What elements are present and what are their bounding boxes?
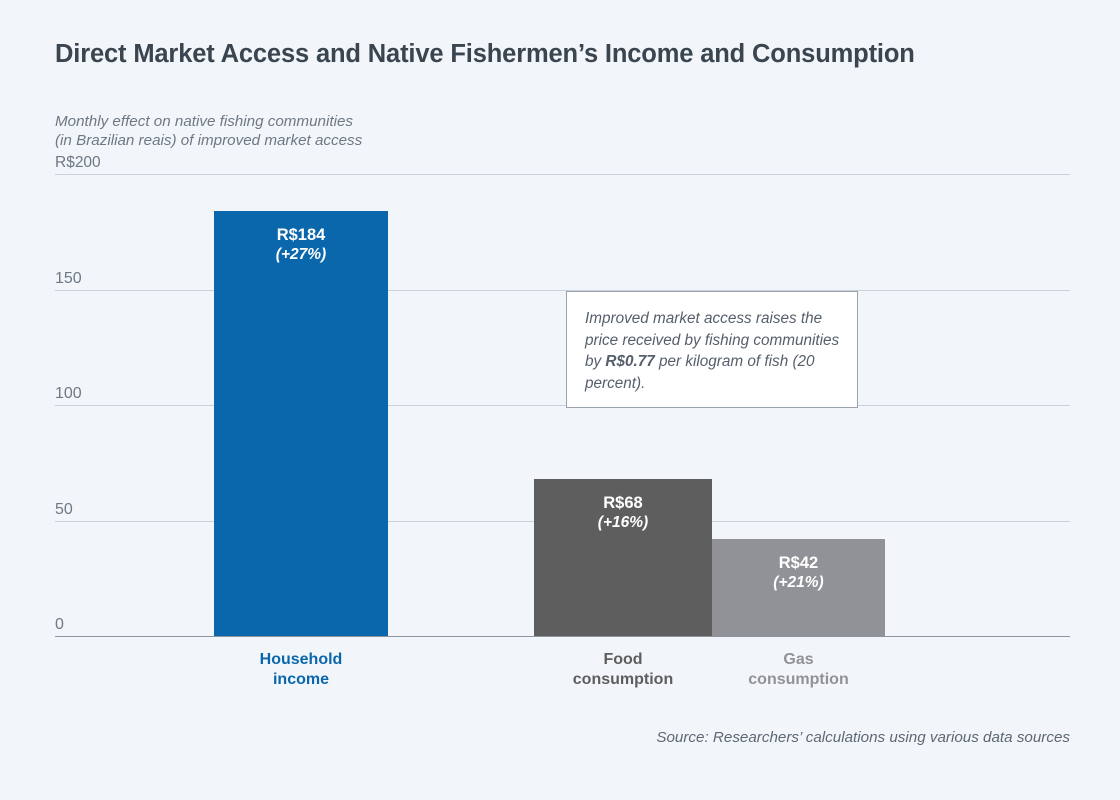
bar-gas-consumption[interactable]: R$42(+21%)	[712, 539, 885, 636]
plot-area: R$200150100500R$184(+27%)Householdincome…	[0, 0, 1120, 800]
y-tick-200: R$200	[55, 155, 101, 171]
bar-delta-label-food-consumption: (+16%)	[534, 513, 712, 533]
bar-value-label-gas-consumption: R$42	[712, 553, 885, 573]
bar-food-consumption[interactable]: R$68(+16%)	[534, 479, 712, 636]
callout-emphasis-value: R$0.77	[605, 353, 654, 370]
callout-box: Improved market access raises the price …	[566, 291, 858, 408]
bar-household-income[interactable]: R$184(+27%)	[214, 211, 388, 636]
category-label-line-2-food-consumption: consumption	[534, 670, 712, 690]
category-label-gas-consumption: Gasconsumption	[712, 650, 885, 689]
category-label-food-consumption: Foodconsumption	[534, 650, 712, 689]
bar-value-label-household-income: R$184	[214, 225, 388, 245]
category-label-line-2-household-income: income	[214, 670, 388, 690]
y-tick-150: 150	[55, 271, 82, 287]
chart-figure: Direct Market Access and Native Fisherme…	[0, 0, 1120, 800]
y-tick-0: 0	[55, 617, 64, 633]
category-label-line-2-gas-consumption: consumption	[712, 670, 885, 690]
category-label-line-1-household-income: Household	[214, 650, 388, 670]
category-label-line-1-food-consumption: Food	[534, 650, 712, 670]
axis-baseline	[55, 636, 1070, 637]
gridline-100-seg2	[858, 405, 1070, 406]
y-tick-100: 100	[55, 386, 82, 402]
bar-value-label-food-consumption: R$68	[534, 493, 712, 513]
bar-delta-label-household-income: (+27%)	[214, 245, 388, 265]
gridline-150	[55, 290, 1070, 291]
callout-text: Improved market access raises the price …	[585, 308, 843, 394]
gridline-200	[55, 174, 1070, 175]
category-label-household-income: Householdincome	[214, 650, 388, 689]
category-label-line-1-gas-consumption: Gas	[712, 650, 885, 670]
source-note: Source: Researchers’ calculations using …	[656, 729, 1070, 746]
bar-delta-label-gas-consumption: (+21%)	[712, 573, 885, 593]
y-tick-50: 50	[55, 502, 73, 518]
